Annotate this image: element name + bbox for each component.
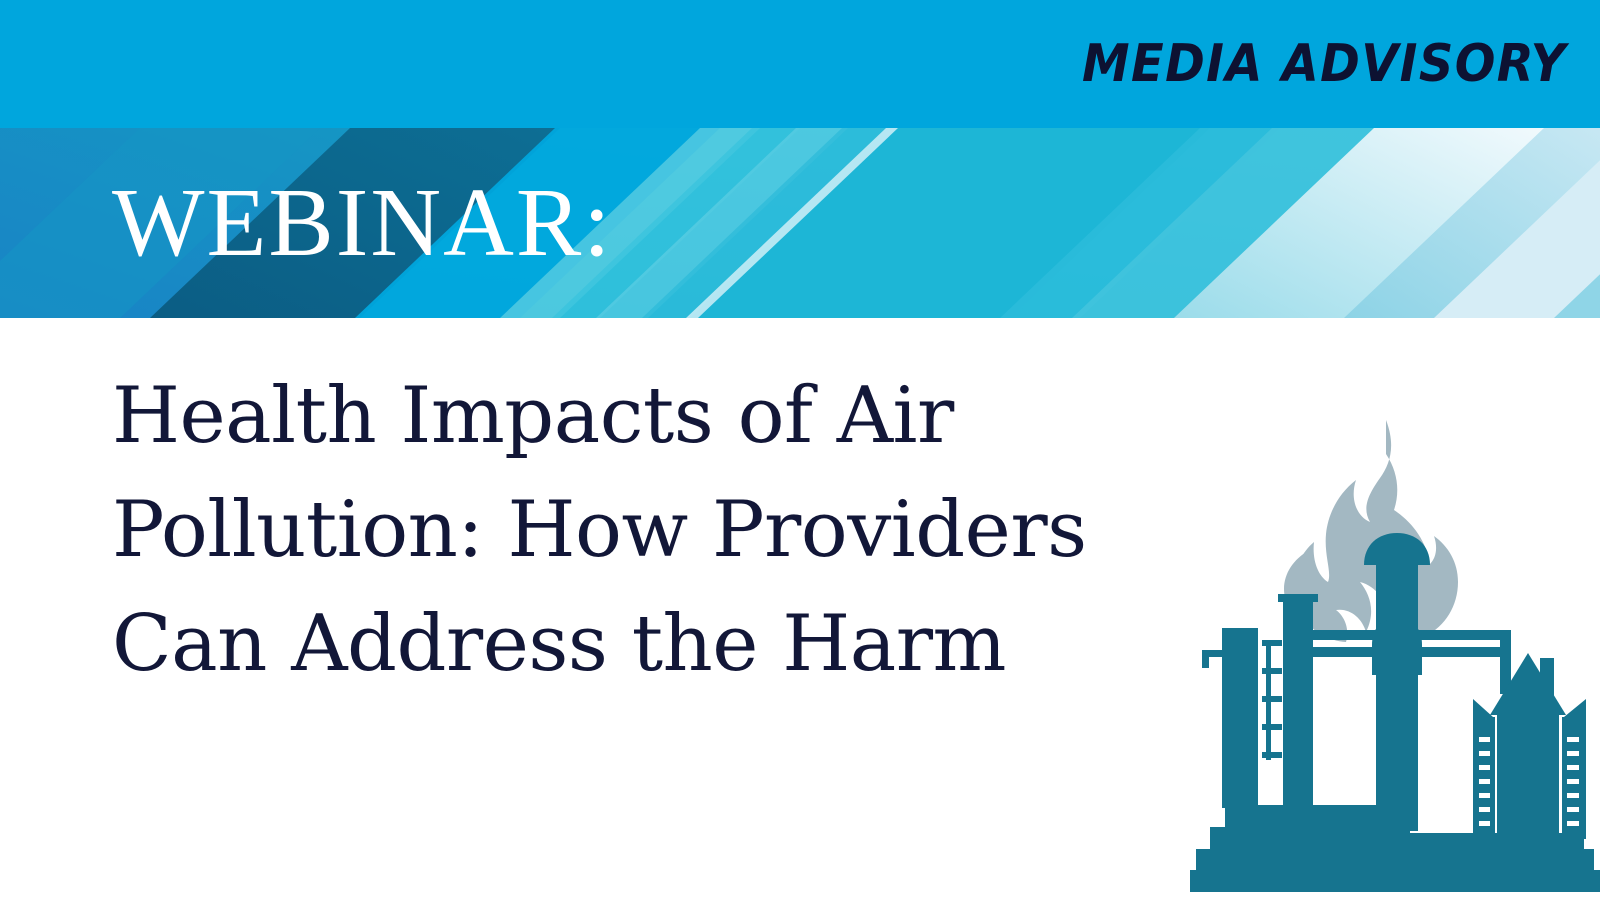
left-tower — [1222, 628, 1258, 808]
factory-illustration — [1190, 415, 1600, 900]
media-advisory-label: MEDIA ADVISORY — [1082, 38, 1600, 90]
factory-base-lower — [1196, 849, 1594, 871]
pipe-bridge-upper — [1313, 630, 1431, 640]
capped-smokestack — [1376, 581, 1418, 831]
right-silo — [1562, 717, 1586, 839]
webinar-kicker-label: WEBINAR: — [112, 174, 613, 272]
media-advisory-poster: MEDIA ADVISORY — [0, 0, 1600, 900]
factory-ground — [1190, 870, 1600, 892]
left-silo — [1473, 717, 1495, 839]
ladder-tower — [1283, 597, 1313, 812]
top-bar: MEDIA ADVISORY — [0, 0, 1600, 128]
factory-smoke-icon — [1190, 415, 1600, 900]
page-title: Health Impacts of Air Pollution: How Pro… — [112, 360, 1172, 702]
diagonal-stripe-banner: WEBINAR: — [0, 128, 1600, 318]
